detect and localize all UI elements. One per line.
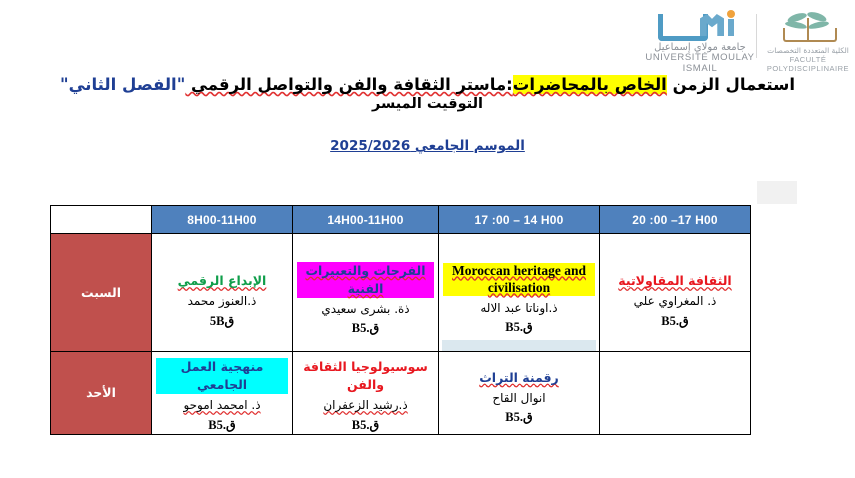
course-title: منهجية العمل الجامعي [156,358,288,394]
course-room: ق.B5 [443,318,595,336]
time-header-17-14: 17 :00 – 14 H00 [439,206,600,234]
course-title: رقمنة التراث [479,369,559,387]
university-logo: جامعة مولاي إسماعيل UNIVERSITÉ MOULAY IS… [645,10,755,75]
course-title: الإبداع الرقمي [178,272,267,290]
faculty-logo: الكلية المتعددة التخصصات FACULTÉ POLYDIS… [762,12,854,73]
course-title: الثقافة المقاولاتية [618,272,731,290]
time-header-14-11: 14H00-11H00 [293,206,439,234]
course-teacher: ذ.العنوز محمد [156,293,288,310]
time-header-8-11: 8H00-11H00 [152,206,293,234]
course-teacher: انوال القاح [443,390,595,407]
decorative-gray-box [757,181,797,204]
logo-bar: جامعة مولاي إسماعيل UNIVERSITÉ MOULAY IS… [0,6,855,66]
faculty-polydisciplinaire-logo-icon [777,12,839,44]
course-room: ق.B5 [297,416,434,434]
slot-sunday-8-11[interactable]: منهجية العمل الجامعي ذ. امحمد اموحو ق.B5 [152,352,293,435]
table-row: الثقافة المقاولاتية ذ. المغراوي علي ق.B5… [51,234,751,352]
slot-sunday-20-17[interactable] [600,352,751,435]
title-semester: "الفصل الثاني" [60,75,185,94]
course-room: ق5B [156,312,288,330]
slot-saturday-14-11[interactable]: الفرجات والتعبيرات الفنية ذة. بشرى سعيدي… [293,234,439,352]
cell-blue-band [442,340,596,351]
slot-saturday-17-14[interactable]: Moroccan heritage and civilisation ذ.اون… [439,234,600,352]
course-title: Moroccan heritage and civilisation [443,263,595,297]
course-room: ق.B5 [443,408,595,426]
logo-divider [756,14,757,58]
course-teacher: ذ.اوناتا عبد الاله [443,300,595,317]
course-room: ق.B5 [604,312,746,330]
course-title: سوسيولوجيا الثقافة والفن [297,358,434,394]
title-highlight: الخاص بالمحاضرات [513,75,667,94]
timetable: 20 :00 –17 H00 17 :00 – 14 H00 14H00-11H… [50,205,751,435]
umi-logo-icon [652,10,748,40]
course-teacher: ذ. امحمد اموحو [156,397,288,414]
title-part-2: :ماستر الثقافة والفن والتواصل الرقمي [185,75,512,94]
day-label-sunday: الأحد [51,352,152,435]
faculty-name-arabic: الكلية المتعددة التخصصات [762,46,854,55]
page-subtitle: التوقيت الميسر [0,96,855,112]
time-header-20-17: 20 :00 –17 H00 [600,206,751,234]
timetable-header-row: 20 :00 –17 H00 17 :00 – 14 H00 14H00-11H… [51,206,751,234]
course-title: الفرجات والتعبيرات الفنية [297,262,434,298]
slot-saturday-20-17[interactable]: الثقافة المقاولاتية ذ. المغراوي علي ق.B5 [600,234,751,352]
academic-year-label: الموسم الجامعي 2025/2026 [0,138,855,154]
day-label-saturday: السبت [51,234,152,352]
slot-sunday-17-14[interactable]: رقمنة التراث انوال القاح ق.B5 [439,352,600,435]
title-part-1: استعمال الزمن [667,75,795,94]
course-teacher: ذ. المغراوي علي [604,293,746,310]
slot-sunday-14-11[interactable]: سوسيولوجيا الثقافة والفن ذ.رشيد الزعفران… [293,352,439,435]
day-column-header [51,206,152,234]
slot-saturday-8-11[interactable]: الإبداع الرقمي ذ.العنوز محمد ق5B [152,234,293,352]
page-title: استعمال الزمن الخاص بالمحاضرات:ماستر الث… [0,74,855,96]
course-room: ق.B5 [297,319,434,337]
faculty-name-french: FACULTÉ POLYDISCIPLINAIRE [762,55,854,73]
university-name-french: UNIVERSITÉ MOULAY ISMAIL [645,53,755,75]
course-teacher: ذ.رشيد الزعفران [297,397,434,414]
course-room: ق.B5 [156,416,288,434]
table-row: رقمنة التراث انوال القاح ق.B5 سوسيولوجيا… [51,352,751,435]
course-teacher: ذة. بشرى سعيدي [297,301,434,318]
